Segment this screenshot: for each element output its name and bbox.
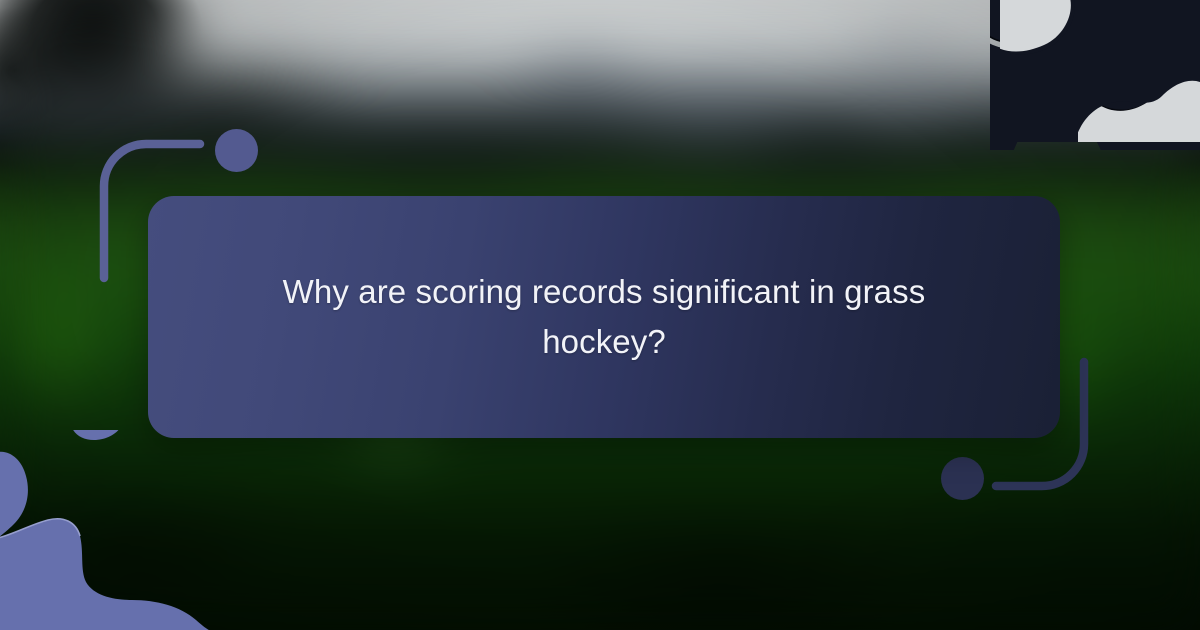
accent-dot-top-left [215,129,258,172]
accent-dot-bottom-right [941,457,984,500]
question-card-graphic: Why are scoring records significant in g… [0,0,1200,630]
question-text: Why are scoring records significant in g… [220,267,988,367]
question-card: Why are scoring records significant in g… [148,196,1060,438]
